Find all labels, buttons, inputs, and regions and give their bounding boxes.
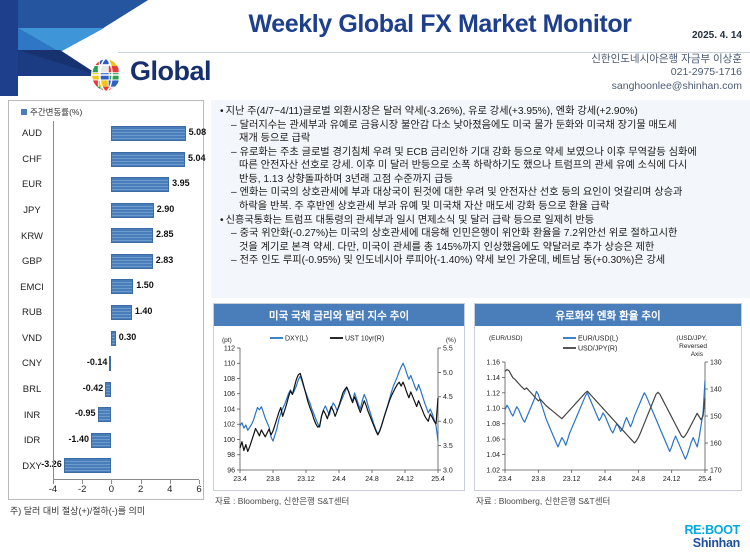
contact-email: sanghoonlee@shinhan.com <box>591 80 742 93</box>
bar-category-label: RUB <box>13 307 51 318</box>
svg-text:24.4: 24.4 <box>598 476 612 483</box>
bar-chart-row: AUD5.08 <box>9 121 205 147</box>
svg-text:1.02: 1.02 <box>486 467 500 474</box>
commentary-line: 중국 위안화(-0.27%)는 미국의 상호관세에 대응해 인민은행이 위안화 … <box>217 227 744 241</box>
bar-chart-row: DXY-3.26 <box>9 453 205 479</box>
svg-text:96: 96 <box>227 467 235 474</box>
bar-value-label: 1.50 <box>136 280 154 290</box>
svg-text:(EUR/USD): (EUR/USD) <box>489 335 523 342</box>
svg-text:4.5: 4.5 <box>443 394 453 401</box>
svg-text:1.08: 1.08 <box>486 421 500 428</box>
svg-text:24.12: 24.12 <box>663 476 681 483</box>
bar-segment <box>91 433 111 448</box>
bar-chart-row: RUB1.40 <box>9 300 205 326</box>
svg-text:3.0: 3.0 <box>443 467 453 474</box>
bar-segment <box>98 407 112 422</box>
svg-text:23.4: 23.4 <box>498 476 512 483</box>
bar-plot-area: AUD5.08CHF5.04EUR3.95JPY2.90KRW2.85GBP2.… <box>9 121 205 479</box>
svg-text:100: 100 <box>223 437 235 444</box>
svg-text:1.04: 1.04 <box>486 452 500 459</box>
svg-text:DXY(L): DXY(L) <box>285 336 308 343</box>
commentary-line: 하락을 반복. 주 후반엔 상호관세 부과 유예 및 미국채 자산 매도세 강화… <box>217 200 744 214</box>
bar-segment <box>111 228 153 243</box>
reboot-line2: Shinhan <box>684 537 740 550</box>
bar-chart-row: VND0.30 <box>9 326 205 352</box>
commentary-line: 지난 주(4/7~4/11)글로벌 외환시장은 달러 약세(-3.26%), 유… <box>217 105 744 119</box>
bar-chart-row: CNY-0.14 <box>9 351 205 377</box>
svg-text:24.8: 24.8 <box>632 476 646 483</box>
bar-value-label: 0.30 <box>119 332 137 342</box>
bar-segment <box>111 203 153 218</box>
contact-name: 신한인도네시아은행 자금부 이상훈 <box>591 53 742 66</box>
bar-segment <box>111 331 115 346</box>
svg-text:23.12: 23.12 <box>563 476 581 483</box>
svg-text:(USD/JPY,: (USD/JPY, <box>676 335 707 342</box>
ust-dxy-chart-svg: 96981001021041061081101123.03.54.04.55.0… <box>214 326 464 490</box>
svg-text:25.4: 25.4 <box>431 476 445 483</box>
bar-x-axis <box>53 479 199 480</box>
bar-chart-legend: 주간변동률(%) <box>21 106 82 118</box>
bar-x-tick-label: 0 <box>109 484 114 495</box>
bar-value-label: 2.85 <box>156 229 174 239</box>
chart-title-ust-dxy: 미국 국채 금리와 달러 지수 추이 <box>214 304 464 326</box>
bar-segment <box>111 305 131 320</box>
svg-text:Reversed: Reversed <box>679 343 707 350</box>
svg-text:3.5: 3.5 <box>443 443 453 450</box>
bar-segment <box>111 152 185 167</box>
bar-category-label: KRW <box>13 231 51 242</box>
svg-text:108: 108 <box>223 376 235 383</box>
bar-value-label: 2.90 <box>157 204 175 214</box>
svg-text:5.0: 5.0 <box>443 370 453 377</box>
bar-segment <box>109 356 111 371</box>
bar-value-label: -0.42 <box>77 383 103 393</box>
ust-dxy-chart-panel: 미국 국채 금리와 달러 지수 추이 969810010210410610811… <box>213 303 465 491</box>
bar-value-label: -3.26 <box>36 459 62 469</box>
bar-x-tick-label: 6 <box>196 484 201 495</box>
bar-category-label: AUD <box>13 128 51 139</box>
weekly-change-bar-chart: 주간변동률(%) AUD5.08CHF5.04EUR3.95JPY2.90KRW… <box>8 100 204 500</box>
page-title: Weekly Global FX Market Monitor <box>230 10 650 39</box>
commentary-line: 따른 안전자산 선호로 강세. 이후 미 달러 반등으로 소폭 하락하기도 했으… <box>217 159 744 173</box>
bar-category-label: JPY <box>13 205 51 216</box>
eurusd-usdjpy-chart-svg: 1.021.041.061.081.101.121.141.1613014015… <box>475 326 741 490</box>
svg-text:USD/JPY(R): USD/JPY(R) <box>578 346 617 353</box>
bar-chart-row: BRL-0.42 <box>9 377 205 403</box>
bar-category-label: CHF <box>13 154 51 165</box>
bar-value-label: -1.40 <box>63 434 89 444</box>
contact-block: 신한인도네시아은행 자금부 이상훈 021-2975-1716 sanghoon… <box>591 53 742 93</box>
bar-segment <box>111 254 152 269</box>
bar-chart-note: 주) 달러 대비 절상(+)/절하(-)를 의미 <box>10 504 145 517</box>
svg-text:170: 170 <box>710 467 722 474</box>
bar-category-label: VND <box>13 333 51 344</box>
bar-chart-row: EMCI1.50 <box>9 274 205 300</box>
legend-label: 주간변동률(%) <box>30 106 82 118</box>
commentary-line: 엔화는 미국의 상호관세에 부과 대상국이 된것에 대한 우려 및 안전자산 선… <box>217 186 744 200</box>
bar-segment <box>111 126 185 141</box>
svg-text:140: 140 <box>710 386 722 393</box>
bar-value-label: -0.14 <box>81 357 107 367</box>
svg-text:98: 98 <box>227 452 235 459</box>
bar-chart-row: CHF5.04 <box>9 147 205 173</box>
commentary-line: 전주 인도 루피(-0.95%) 및 인도네시아 루피아(-1.40%) 약세 … <box>217 254 744 268</box>
commentary-line: 재개 등으로 급락 <box>217 132 744 146</box>
bar-segment <box>105 382 111 397</box>
svg-text:1.14: 1.14 <box>486 375 500 382</box>
commentary-line: 유로화는 주초 글로벌 경기침체 우려 및 ECB 금리인하 기대 강화 등으로… <box>217 146 744 160</box>
commentary-line: 것을 계기로 본격 약세. 다만, 미국이 관세를 총 145%까지 인상했음에… <box>217 241 744 255</box>
bar-x-tick-label: -4 <box>49 484 57 495</box>
bar-chart-row: KRW2.85 <box>9 223 205 249</box>
svg-text:23.4: 23.4 <box>233 476 247 483</box>
svg-text:1.10: 1.10 <box>486 406 500 413</box>
commentary-line: 반등, 1.13 상향돌파하며 3년래 고점 수준까지 급등 <box>217 173 744 187</box>
page-header: Weekly Global FX Market Monitor 2025. 4.… <box>0 0 750 96</box>
svg-text:4.0: 4.0 <box>443 419 453 426</box>
eurusd-usdjpy-chart-panel: 유로화와 엔화 환율 추이 1.021.041.061.081.101.121.… <box>474 303 742 491</box>
svg-text:23.8: 23.8 <box>266 476 280 483</box>
svg-text:150: 150 <box>710 413 722 420</box>
bar-value-label: 1.40 <box>135 306 153 316</box>
svg-text:Axis: Axis <box>691 351 704 358</box>
bar-x-tick-label: -2 <box>78 484 86 495</box>
globe-flags-icon <box>88 57 124 93</box>
svg-text:(%): (%) <box>446 337 456 344</box>
reboot-shinhan-logo: RE:BOOT Shinhan <box>684 524 740 550</box>
svg-text:23.12: 23.12 <box>297 476 315 483</box>
bar-category-label: IDR <box>13 435 51 446</box>
chart-source-left: 자료 : Bloomberg, 신한은행 S&T센터 <box>215 495 349 507</box>
chart-title-eurusd-usdjpy: 유로화와 엔화 환율 추이 <box>475 304 741 326</box>
bar-x-tick-label: 2 <box>138 484 143 495</box>
bar-category-label: BRL <box>13 384 51 395</box>
issue-date: 2025. 4. 14 <box>692 30 742 41</box>
svg-text:160: 160 <box>710 440 722 447</box>
svg-text:104: 104 <box>223 406 235 413</box>
bar-value-label: -0.95 <box>70 408 96 418</box>
svg-text:112: 112 <box>224 345 235 352</box>
bar-chart-row: EUR3.95 <box>9 172 205 198</box>
svg-text:1.16: 1.16 <box>486 359 500 366</box>
bar-chart-row: JPY2.90 <box>9 198 205 224</box>
svg-text:1.06: 1.06 <box>486 437 500 444</box>
commentary-text-block: 지난 주(4/7~4/11)글로벌 외환시장은 달러 약세(-3.26%), 유… <box>211 100 750 298</box>
bar-chart-row: IDR-1.40 <box>9 428 205 454</box>
legend-swatch-icon <box>21 109 27 115</box>
bar-value-label: 5.04 <box>188 153 206 163</box>
svg-text:102: 102 <box>223 422 235 429</box>
bar-category-label: EUR <box>13 179 51 190</box>
bar-segment <box>111 279 133 294</box>
bar-segment <box>64 458 112 473</box>
bar-value-label: 2.83 <box>156 255 174 265</box>
svg-text:1.12: 1.12 <box>486 390 500 397</box>
bar-category-label: CNY <box>13 358 51 369</box>
reboot-line1: RE:BOOT <box>684 524 740 537</box>
svg-text:UST 10yr(R): UST 10yr(R) <box>345 336 384 343</box>
bar-chart-row: GBP2.83 <box>9 249 205 275</box>
brand-global-word: Global <box>130 56 211 87</box>
svg-text:5.5: 5.5 <box>443 345 453 352</box>
bar-category-label: INR <box>13 410 51 421</box>
bar-value-label: 3.95 <box>172 178 190 188</box>
svg-text:24.12: 24.12 <box>396 476 414 483</box>
contact-phone: 021-2975-1716 <box>591 66 742 79</box>
bar-category-label: EMCI <box>13 282 51 293</box>
bar-zero-line <box>53 121 54 479</box>
bar-category-label: GBP <box>13 256 51 267</box>
chart-source-right: 자료 : Bloomberg, 신한은행 S&T센터 <box>476 495 610 507</box>
bar-segment <box>111 177 169 192</box>
shinhan-logo-mark <box>0 0 250 96</box>
svg-text:110: 110 <box>224 361 235 368</box>
svg-text:25.4: 25.4 <box>698 476 712 483</box>
svg-text:130: 130 <box>710 359 722 366</box>
svg-text:(pt): (pt) <box>222 337 232 344</box>
commentary-line: 달러지수는 관세부과 유예로 금융시장 불안감 다소 낮아졌음에도 미국 물가 … <box>217 119 744 133</box>
commentary-line: 신흥국통화는 트럼프 대통령의 관세부과 일시 면제소식 및 달러 급락 등으로… <box>217 214 744 228</box>
bar-chart-row: INR-0.95 <box>9 402 205 428</box>
svg-text:24.8: 24.8 <box>365 476 379 483</box>
bar-value-label: 5.08 <box>189 127 207 137</box>
svg-text:23.8: 23.8 <box>532 476 546 483</box>
svg-text:EUR/USD(L): EUR/USD(L) <box>578 336 618 343</box>
bar-x-tick-label: 4 <box>167 484 172 495</box>
svg-text:106: 106 <box>223 391 235 398</box>
svg-text:24.4: 24.4 <box>332 476 346 483</box>
